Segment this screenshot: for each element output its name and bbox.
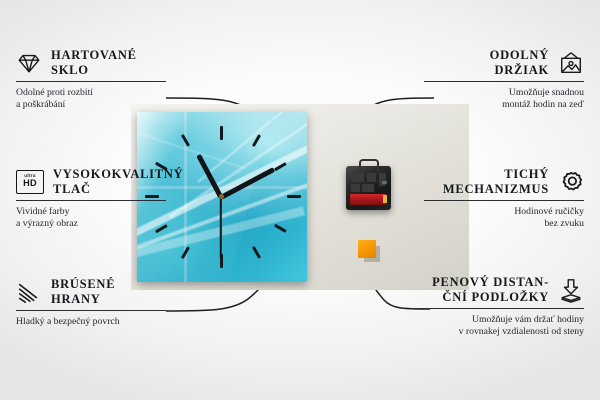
feature-title-2: ČNÍ PODLOŽKY [432, 290, 549, 305]
mechanism-battery [350, 194, 386, 205]
feature-sub-1: Odolné proti rozbití [16, 87, 166, 99]
ultra-hd-icon-bottom: HD [23, 179, 37, 188]
product-photo [131, 104, 469, 290]
feature-title: BRÚSENÉ [51, 277, 115, 292]
feature-title: HARTOVANÉ [51, 48, 137, 63]
feature-title-2: MECHANIZMUS [443, 182, 549, 197]
polished-edges-icon [16, 279, 42, 305]
gear-icon [558, 169, 584, 195]
divider [16, 200, 166, 201]
feature-sub-2: bez zvuku [424, 218, 584, 230]
feature-sub-1: Vividné farby [16, 206, 166, 218]
diamond-icon [16, 50, 42, 76]
feature-spacers: PENOVÝ DISTAN- ČNÍ PODLOŽKY Umožňuje vám… [414, 275, 584, 337]
foam-spacer-icon [558, 277, 584, 303]
feature-sub-1: Umožňuje snadnou [424, 87, 584, 99]
feature-sub-2: a výrazný obraz [16, 218, 166, 230]
ultra-hd-icon: ultra HD [16, 170, 44, 194]
clock-pivot [219, 194, 224, 199]
divider [414, 308, 584, 309]
feature-sub-2: v rovnakej vzdialenosti od steny [414, 326, 584, 338]
feature-quiet: TICHÝ MECHANIZMUS Hodinové ručičky bez z… [424, 167, 584, 229]
feature-title: PENOVÝ DISTAN- [432, 275, 549, 290]
divider [424, 81, 584, 82]
divider [16, 310, 166, 311]
infographic-canvas: HARTOVANÉ SKLO Odolné proti rozbití a po… [0, 0, 600, 400]
picture-frame-icon [558, 50, 584, 76]
feature-sub-1: Umožňuje vám držať hodiny [414, 314, 584, 326]
feature-title-2: DRŽIAK [490, 63, 549, 78]
feature-title-2: HRANY [51, 292, 115, 307]
feature-title: TICHÝ [443, 167, 549, 182]
feature-sub-1: Hladký a bezpečný povrch [16, 316, 166, 328]
feature-title: VYSOKOKVALITNÝ [53, 167, 183, 182]
feature-title: ODOLNÝ [490, 48, 549, 63]
foam-spacer-pad [358, 240, 376, 258]
feature-sub-1: Hodinové ručičky [424, 206, 584, 218]
feature-sub-2: a poškrábání [16, 99, 166, 111]
second-hand [220, 197, 222, 259]
divider [424, 200, 584, 201]
divider [16, 81, 166, 82]
feature-print: ultra HD VYSOKOKVALITNÝ TLAČ Vividné far… [16, 167, 166, 229]
feature-title-2: SKLO [51, 63, 137, 78]
feature-title-2: TLAČ [53, 182, 183, 197]
feature-glass: HARTOVANÉ SKLO Odolné proti rozbití a po… [16, 48, 166, 110]
clock-mechanism [346, 166, 391, 210]
feature-sub-2: montáž hodin na zeď [424, 99, 584, 111]
feature-holder: ODOLNÝ DRŽIAK Umožňuje snadnou montáž ho… [424, 48, 584, 110]
feature-edges: BRÚSENÉ HRANY Hladký a bezpečný povrch [16, 277, 166, 328]
